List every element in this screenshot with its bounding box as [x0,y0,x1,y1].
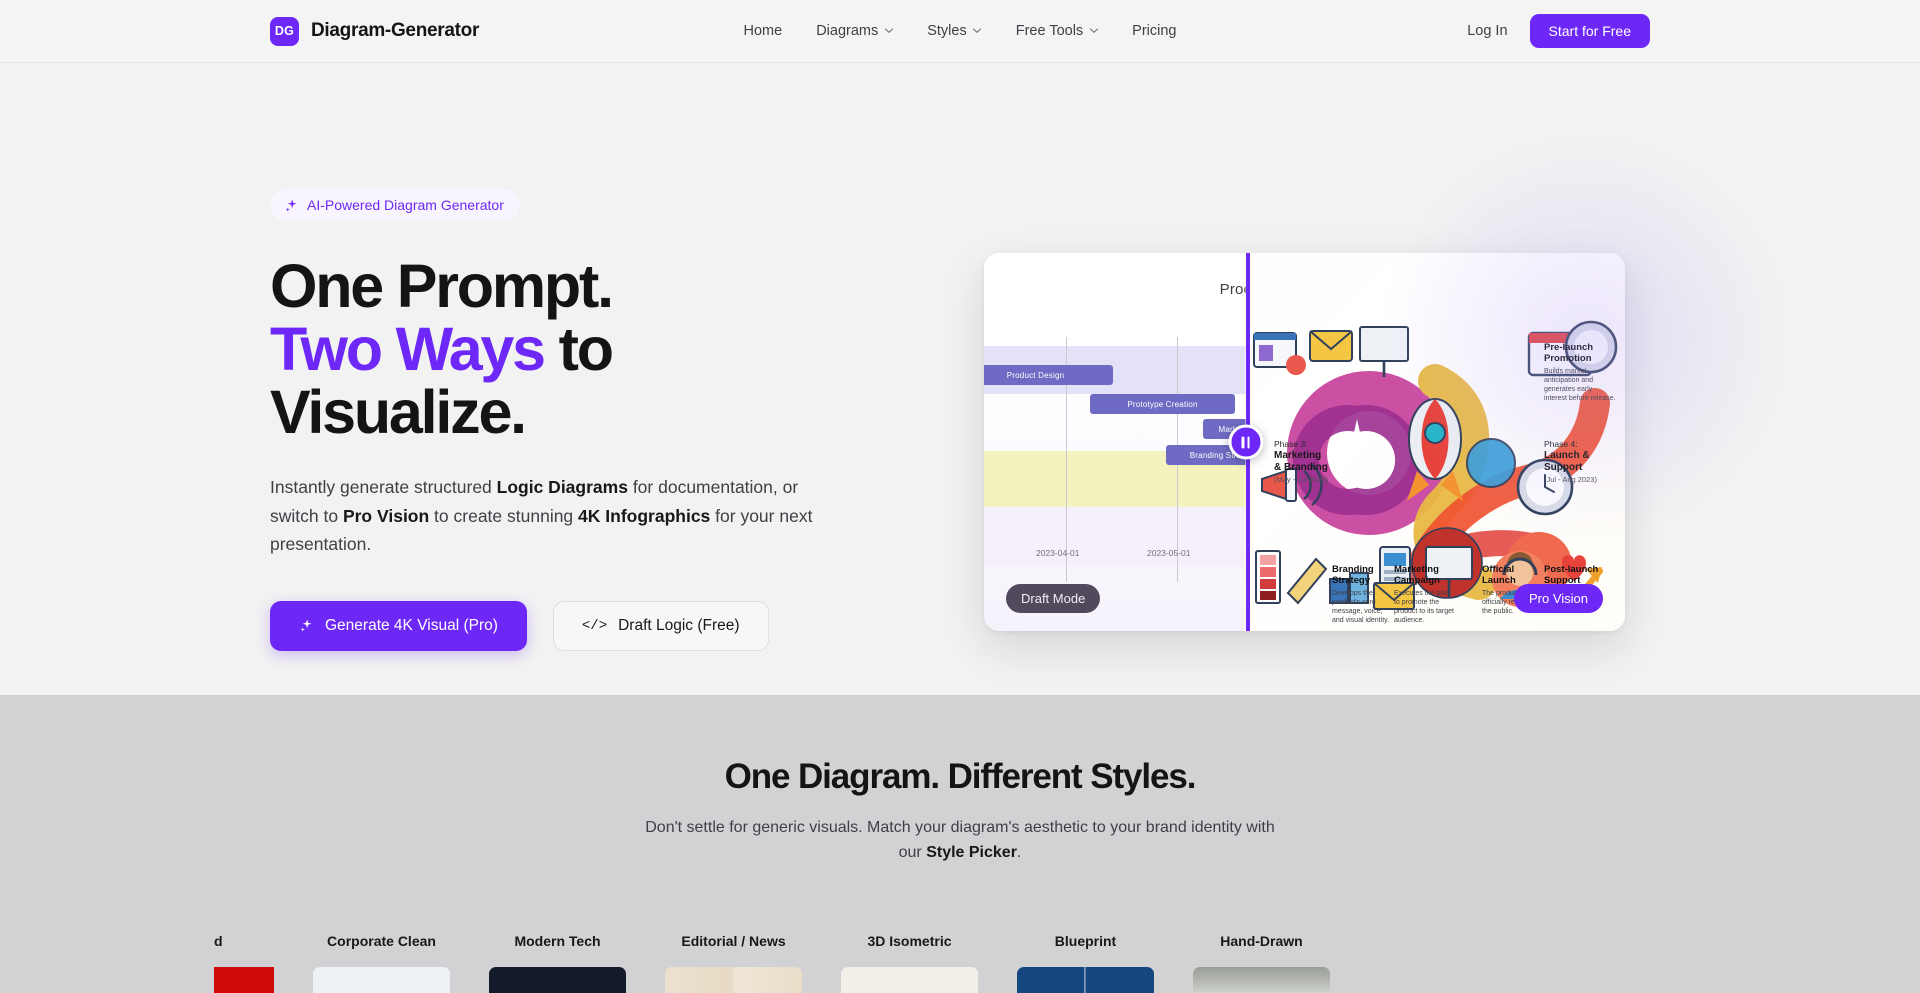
brand-name: Diagram-Generator [311,20,479,42]
style-card-thumb [1017,967,1154,993]
nav-item-pricing[interactable]: Pricing [1118,15,1190,47]
sub-bold-3: 4K Infographics [578,506,710,526]
style-card-thumb [313,967,450,993]
hero-badge-label: AI-Powered Diagram Generator [307,197,504,213]
before-after-comparison[interactable]: Product Launch Timeline Product Design P… [984,253,1625,631]
style-card-thumb [665,967,802,993]
nav-label: Diagrams [816,23,878,39]
generate-4k-visual-button[interactable]: Generate 4K Visual (Pro) [270,601,527,651]
callout-title: Marketing Campaign [1394,565,1456,587]
section-title: One Diagram. Different Styles. [0,757,1920,797]
draft-logic-button[interactable]: </> Draft Logic (Free) [553,601,769,651]
nav-label: Home [744,23,783,39]
phase-dates: (May - Jul 2023) [1274,475,1352,484]
style-card-label: Blueprint [1017,933,1154,949]
style-card-thumb [489,967,626,993]
brand-logo[interactable]: DG Diagram-Generator [270,17,479,46]
secondary-button-label: Draft Logic (Free) [618,617,739,635]
style-card-hand-drawn[interactable]: Hand-Drawn [1193,933,1330,993]
primary-button-label: Generate 4K Visual (Pro) [325,617,498,635]
nav-item-styles[interactable]: Styles [913,15,996,47]
comparison-slider-handle[interactable] [1228,425,1263,460]
code-brackets-icon: </> [582,618,607,634]
chevron-down-icon [973,26,982,35]
style-card-label: Corporate Clean [313,933,450,949]
header-actions: Log In Start for Free [1467,14,1650,48]
login-link[interactable]: Log In [1467,23,1507,39]
style-card-label: 3D Isometric [841,933,978,949]
style-card-label: Hand-Drawn [1193,933,1330,949]
hero-title-line-1: One Prompt. [270,252,612,320]
main-nav: Home Diagrams Styles Free Tools Pricing [730,15,1191,47]
nav-label: Styles [927,23,967,39]
phase-3-label: Phase 3: Marketing & Branding (May - Jul… [1274,439,1352,484]
hero-title-line-3: Visualize. [270,378,525,446]
nav-label: Free Tools [1016,23,1083,39]
section-subtitle: Don't settle for generic visuals. Match … [640,816,1280,866]
nav-item-diagrams[interactable]: Diagrams [802,15,907,47]
style-card-3d-isometric[interactable]: 3D Isometric [841,933,978,993]
hero-copy: AI-Powered Diagram Generator One Prompt.… [270,63,870,695]
styles-section: One Diagram. Different Styles. Don't set… [0,695,1920,993]
brand-mark-icon: DG [270,17,299,46]
section-subtitle-part-2: . [1017,844,1021,861]
style-card-thumb [1193,967,1330,993]
style-card-partial[interactable]: d [214,933,274,993]
sparkle-icon [284,198,299,213]
start-for-free-button[interactable]: Start for Free [1530,14,1650,48]
pro-vision-badge: Pro Vision [1514,584,1603,613]
gantt-bar: Product Design [984,365,1113,385]
callout-body: Develops the product's core message, voi… [1332,590,1389,624]
callout-pre-launch: Pre-launch Promotion Builds market antic… [1544,343,1616,403]
gantt-bar: Prototype Creation [1090,394,1235,414]
handle-bar-icon [1242,436,1245,448]
sub-part-3: to create stunning [429,506,578,526]
phase-title: Launch & Support [1544,450,1622,475]
callout-title: Pre-launch Promotion [1544,343,1616,365]
hero-section: AI-Powered Diagram Generator One Prompt.… [0,63,1920,695]
sub-part-1: Instantly generate structured [270,477,497,497]
style-card-label: d [214,933,274,949]
style-card-label: Editorial / News [665,933,802,949]
site-header: DG Diagram-Generator Home Diagrams Style… [0,0,1920,63]
hero-cta-row: Generate 4K Visual (Pro) </> Draft Logic… [270,601,870,651]
style-card-thumb [214,967,274,993]
callout-title: Branding Strategy [1332,565,1394,587]
hero-visual: Product Launch Timeline Product Design P… [984,253,1625,631]
section-subtitle-bold: Style Picker [926,844,1017,861]
style-card-thumb [841,967,978,993]
sparkle-icon [299,618,314,633]
phase-name: Phase 4: [1544,439,1578,449]
style-card-label: Modern Tech [489,933,626,949]
gantt-axis-tick: 2023-05-01 [1147,548,1190,558]
style-card-corporate-clean[interactable]: Corporate Clean [313,933,450,993]
sub-bold-2: Pro Vision [343,506,429,526]
style-carousel[interactable]: d Corporate Clean Modern Tech Editorial … [0,933,1920,993]
hero-title-accent: Two Ways [270,315,544,383]
draft-mode-badge: Draft Mode [1006,584,1100,613]
style-card-modern-tech[interactable]: Modern Tech [489,933,626,993]
phase-title: Marketing & Branding [1274,450,1352,475]
hero-subtitle: Instantly generate structured Logic Diag… [270,473,850,558]
nav-label: Pricing [1132,23,1176,39]
hero-title-line-2-tail: to [544,315,612,383]
callout-branding: Branding Strategy Develops the product's… [1332,565,1394,625]
nav-item-free-tools[interactable]: Free Tools [1002,15,1112,47]
handle-bar-icon [1247,436,1250,448]
chevron-down-icon [884,26,893,35]
callout-body: Builds market anticipation and generates… [1544,368,1616,402]
style-card-editorial-news[interactable]: Editorial / News [665,933,802,993]
phase-4-label: Phase 4: Launch & Support (Jul - Aug 202… [1544,439,1622,484]
callout-body: Executes the plan to promote the product… [1394,590,1454,624]
infographic-icon-cluster [1252,319,1412,405]
hero-title: One Prompt. Two Ways to Visualize. [270,255,870,443]
hero-badge: AI-Powered Diagram Generator [270,189,520,221]
nav-item-home[interactable]: Home [730,15,797,47]
gantt-axis-tick: 2023-04-01 [1036,548,1079,558]
callout-marketing: Marketing Campaign Executes the plan to … [1394,565,1456,625]
phase-name: Phase 3: [1274,439,1308,449]
style-card-blueprint[interactable]: Blueprint [1017,933,1154,993]
sub-bold-1: Logic Diagrams [497,477,628,497]
phase-dates: (Jul - Aug 2023) [1544,475,1622,484]
chevron-down-icon [1089,26,1098,35]
